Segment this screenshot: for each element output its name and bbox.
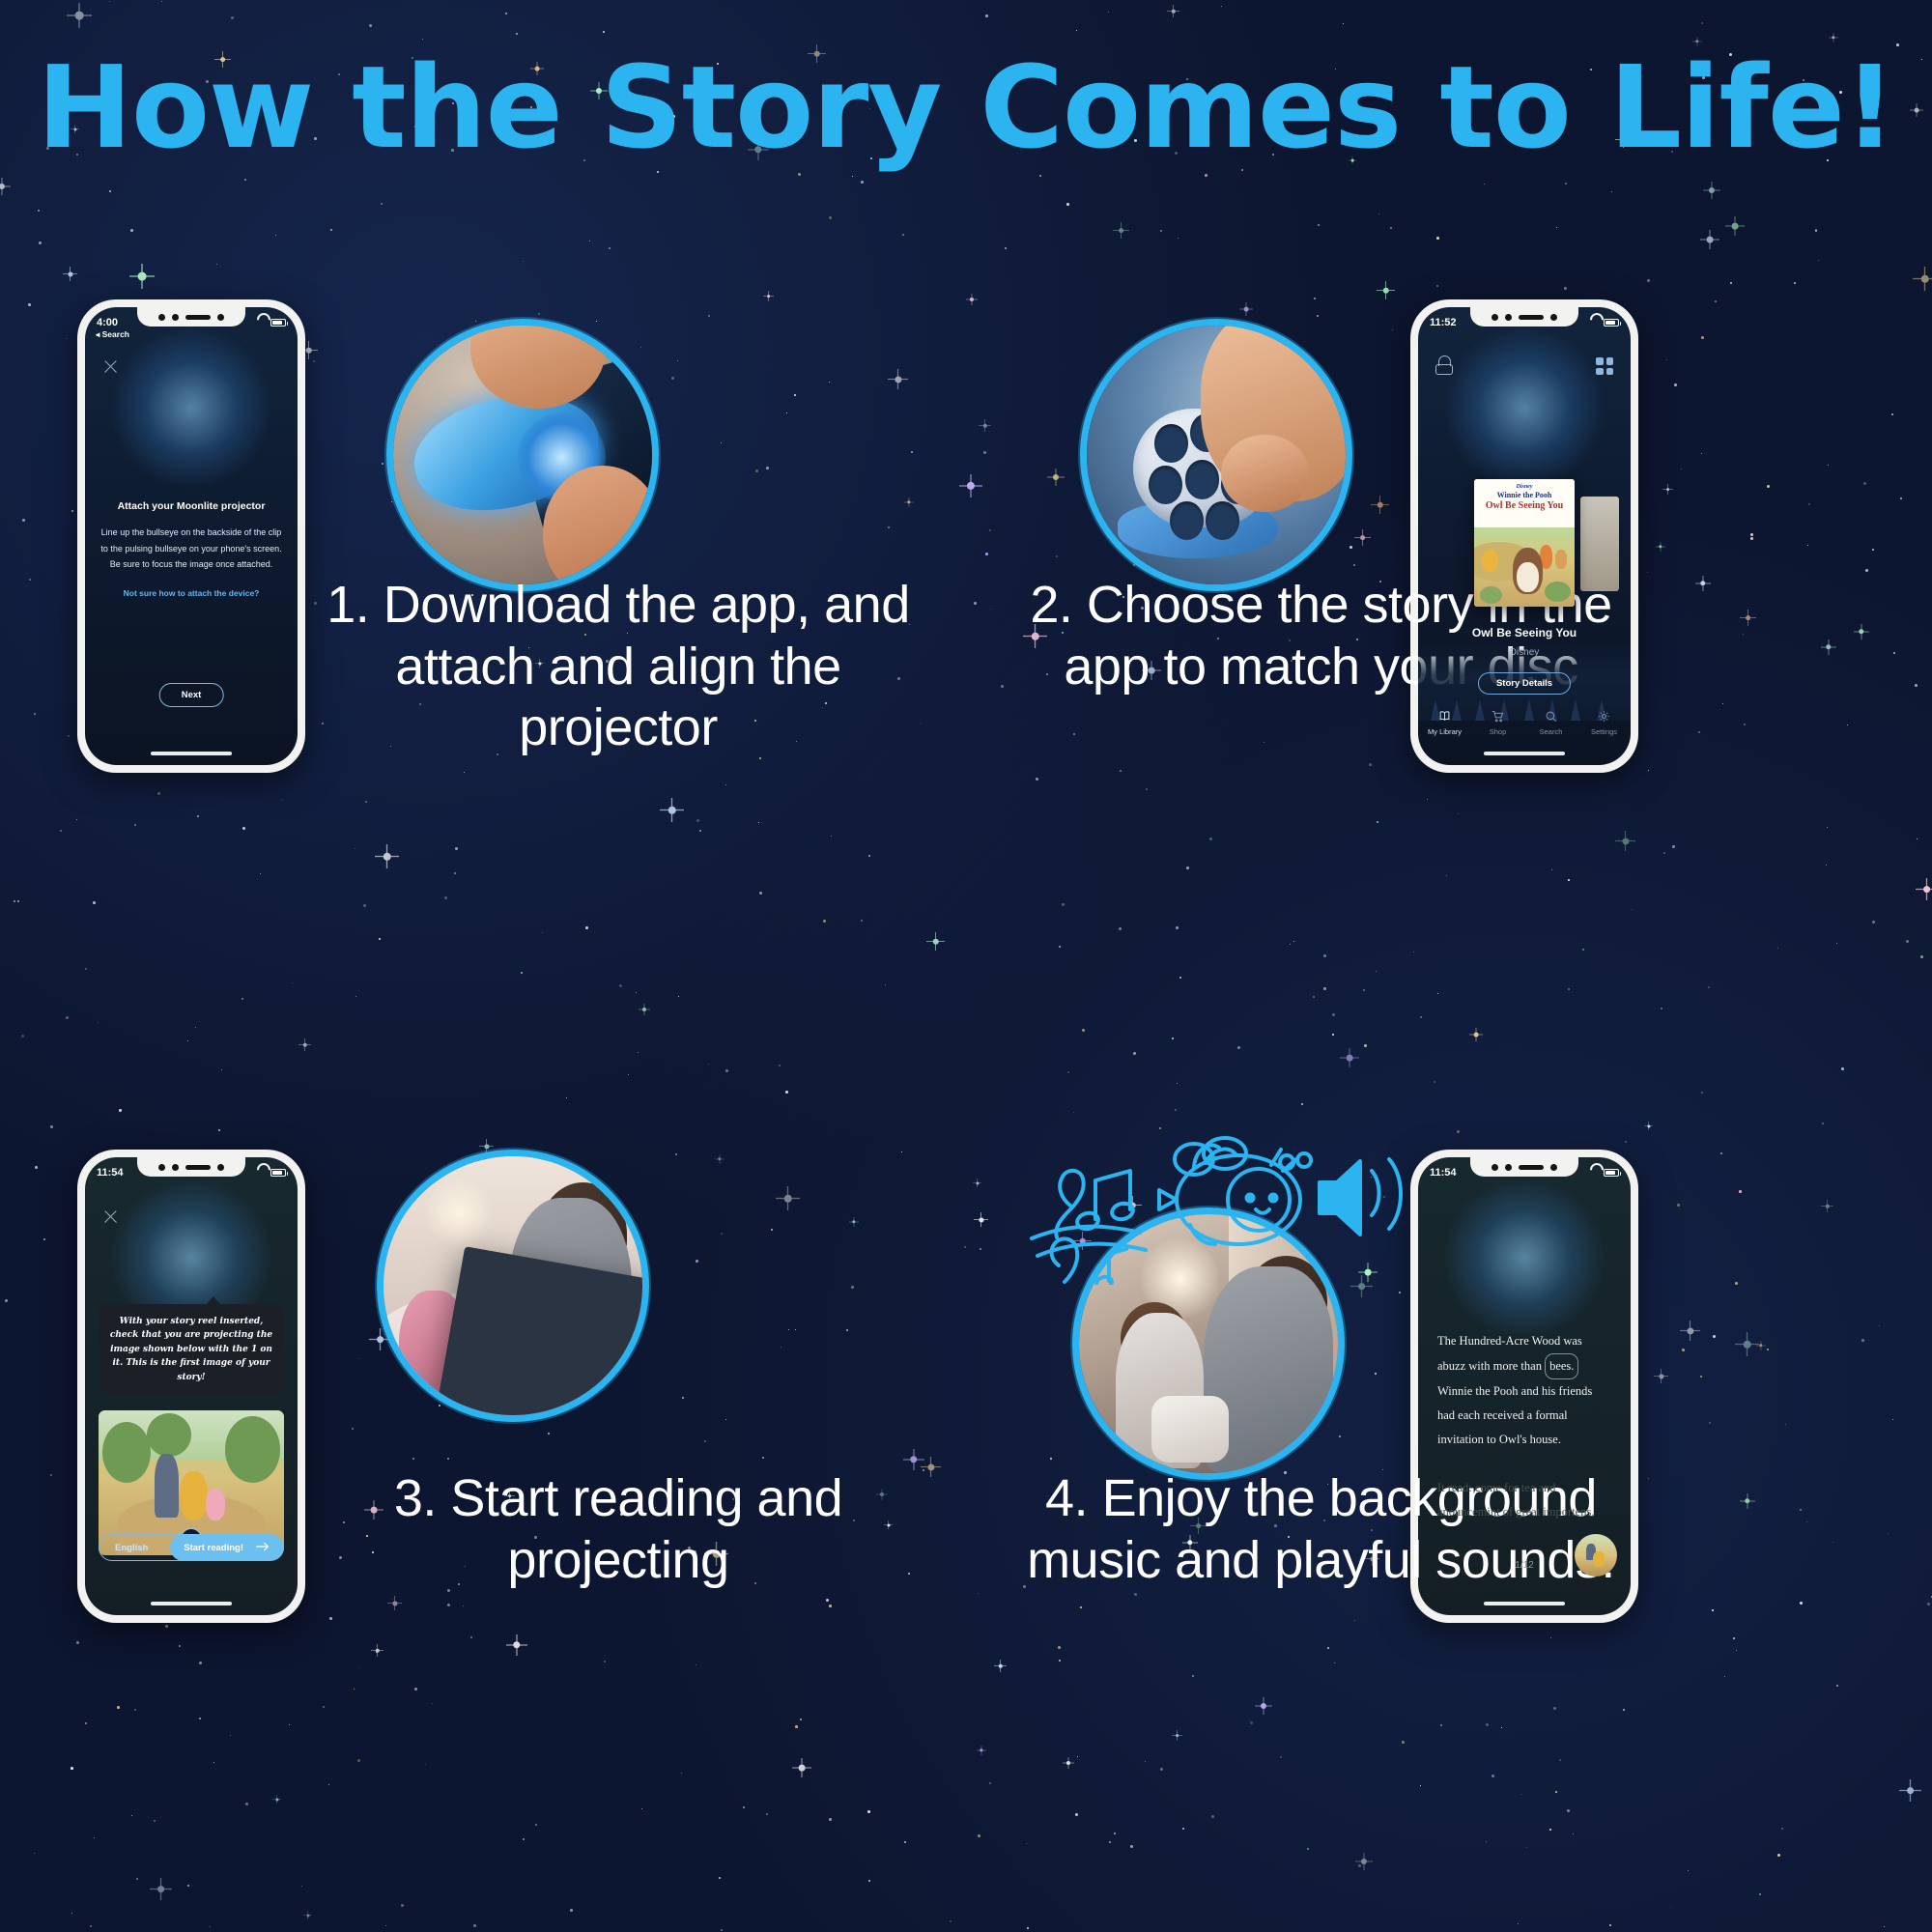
bee-icon bbox=[1159, 1138, 1311, 1244]
book-cover[interactable]: Disney Winnie the Pooh Owl Be Seeing You bbox=[1474, 479, 1575, 607]
next-button[interactable]: Next bbox=[159, 683, 224, 707]
battery-icon bbox=[270, 1169, 286, 1177]
step-3-caption: 3. Start reading and projecting bbox=[319, 1468, 918, 1591]
home-indicator bbox=[1484, 752, 1565, 755]
phone-notch bbox=[1470, 307, 1578, 327]
tab-settings[interactable]: Settings bbox=[1577, 709, 1631, 748]
book-icon bbox=[1418, 709, 1471, 724]
battery-icon bbox=[1604, 1169, 1619, 1177]
next-book-peek[interactable] bbox=[1580, 497, 1619, 591]
battery-icon bbox=[1604, 319, 1619, 327]
cart-icon bbox=[1471, 709, 1524, 724]
attach-body-text: Line up the bullseye on the backside of … bbox=[97, 525, 286, 573]
status-time: 11:54 bbox=[97, 1167, 124, 1179]
step-2: 11:52 Disney Winn bbox=[995, 241, 1893, 966]
gear-icon bbox=[1577, 709, 1631, 724]
page-thumbnail[interactable] bbox=[1575, 1534, 1617, 1577]
wifi-icon bbox=[1590, 319, 1600, 327]
story-title: Owl Be Seeing You bbox=[1418, 626, 1631, 639]
step-3: 11:54 With your story reel inserted, che… bbox=[39, 1043, 927, 1884]
home-indicator bbox=[151, 1602, 232, 1605]
status-time: 11:52 bbox=[1430, 317, 1457, 328]
speaker-icon bbox=[1320, 1159, 1401, 1235]
wifi-icon bbox=[1590, 1169, 1600, 1177]
grid-icon[interactable] bbox=[1596, 357, 1613, 375]
book-brand: Disney bbox=[1474, 484, 1575, 490]
step-1: 4:00 ◂ Search Attach your Moonlite proje… bbox=[39, 241, 927, 966]
tab-label: Search bbox=[1540, 727, 1563, 736]
help-link[interactable]: Not sure how to attach the device? bbox=[97, 588, 286, 598]
story-details-button[interactable]: Story Details bbox=[1478, 672, 1571, 695]
music-and-bee-doodles bbox=[1024, 1111, 1430, 1285]
wifi-icon bbox=[257, 319, 267, 327]
tab-shop[interactable]: Shop bbox=[1471, 709, 1524, 748]
search-icon bbox=[1524, 709, 1577, 724]
step-2-photo bbox=[1080, 319, 1352, 591]
close-icon[interactable] bbox=[102, 357, 119, 374]
tab-my-library[interactable]: My Library bbox=[1418, 709, 1471, 748]
story-author: Disney bbox=[1418, 647, 1631, 658]
projector-glow bbox=[1442, 1176, 1606, 1340]
home-indicator bbox=[151, 752, 232, 755]
step-3-photo bbox=[377, 1150, 649, 1422]
highlighted-word[interactable]: bees. bbox=[1545, 1353, 1578, 1379]
step-2-phone-mockup: 11:52 Disney Winn bbox=[1410, 299, 1638, 773]
back-to-search-link[interactable]: ◂ Search bbox=[96, 329, 129, 340]
status-time: 11:54 bbox=[1430, 1167, 1457, 1179]
arrow-right-icon bbox=[255, 1541, 270, 1555]
story-text-active: The Hundred-Acre Wood was abuzz with mor… bbox=[1437, 1334, 1592, 1446]
story-text-dim: It read: come for tea and anouncemint of… bbox=[1437, 1481, 1594, 1519]
music-note-small-icon bbox=[1095, 1249, 1126, 1285]
battery-icon bbox=[270, 319, 286, 327]
projector-glow bbox=[109, 326, 273, 490]
step-1-caption: 1. Download the app, and attach and alig… bbox=[319, 575, 918, 759]
start-reading-button[interactable]: Start reading! bbox=[170, 1534, 284, 1561]
close-icon[interactable] bbox=[102, 1207, 119, 1224]
tab-label: Settings bbox=[1591, 727, 1617, 736]
step-3-phone-mockup: 11:54 With your story reel inserted, che… bbox=[77, 1150, 305, 1623]
projector-glow bbox=[1442, 326, 1606, 490]
story-text-block: The Hundred-Acre Wood was abuzz with mor… bbox=[1437, 1329, 1611, 1524]
tab-label: My Library bbox=[1428, 727, 1462, 736]
step-1-phone-mockup: 4:00 ◂ Search Attach your Moonlite proje… bbox=[77, 299, 305, 773]
phone-notch bbox=[1470, 1157, 1578, 1177]
book-series: Winnie the Pooh bbox=[1474, 491, 1575, 499]
wifi-icon bbox=[257, 1169, 267, 1177]
tab-label: Shop bbox=[1490, 727, 1507, 736]
lock-icon[interactable] bbox=[1435, 355, 1453, 375]
step-1-photo bbox=[386, 319, 659, 591]
music-staff-lines bbox=[1032, 1227, 1146, 1256]
attach-heading: Attach your Moonlite projector bbox=[97, 500, 286, 512]
phone-notch bbox=[137, 307, 245, 327]
infographic-stage: How the Story Comes to Life! 4:00 bbox=[0, 0, 1932, 1932]
start-reading-label: Start reading! bbox=[184, 1543, 243, 1553]
status-time: 4:00 bbox=[97, 317, 118, 328]
bottom-tab-bar: My Library Shop Search bbox=[1418, 709, 1631, 748]
tab-search[interactable]: Search bbox=[1524, 709, 1577, 748]
page-title: How the Story Comes to Life! bbox=[0, 41, 1932, 174]
home-indicator bbox=[1484, 1602, 1565, 1605]
reel-instruction-tooltip: With your story reel inserted, check tha… bbox=[99, 1304, 284, 1395]
phone-notch bbox=[137, 1157, 245, 1177]
book-cover-title: Owl Be Seeing You bbox=[1474, 500, 1575, 511]
